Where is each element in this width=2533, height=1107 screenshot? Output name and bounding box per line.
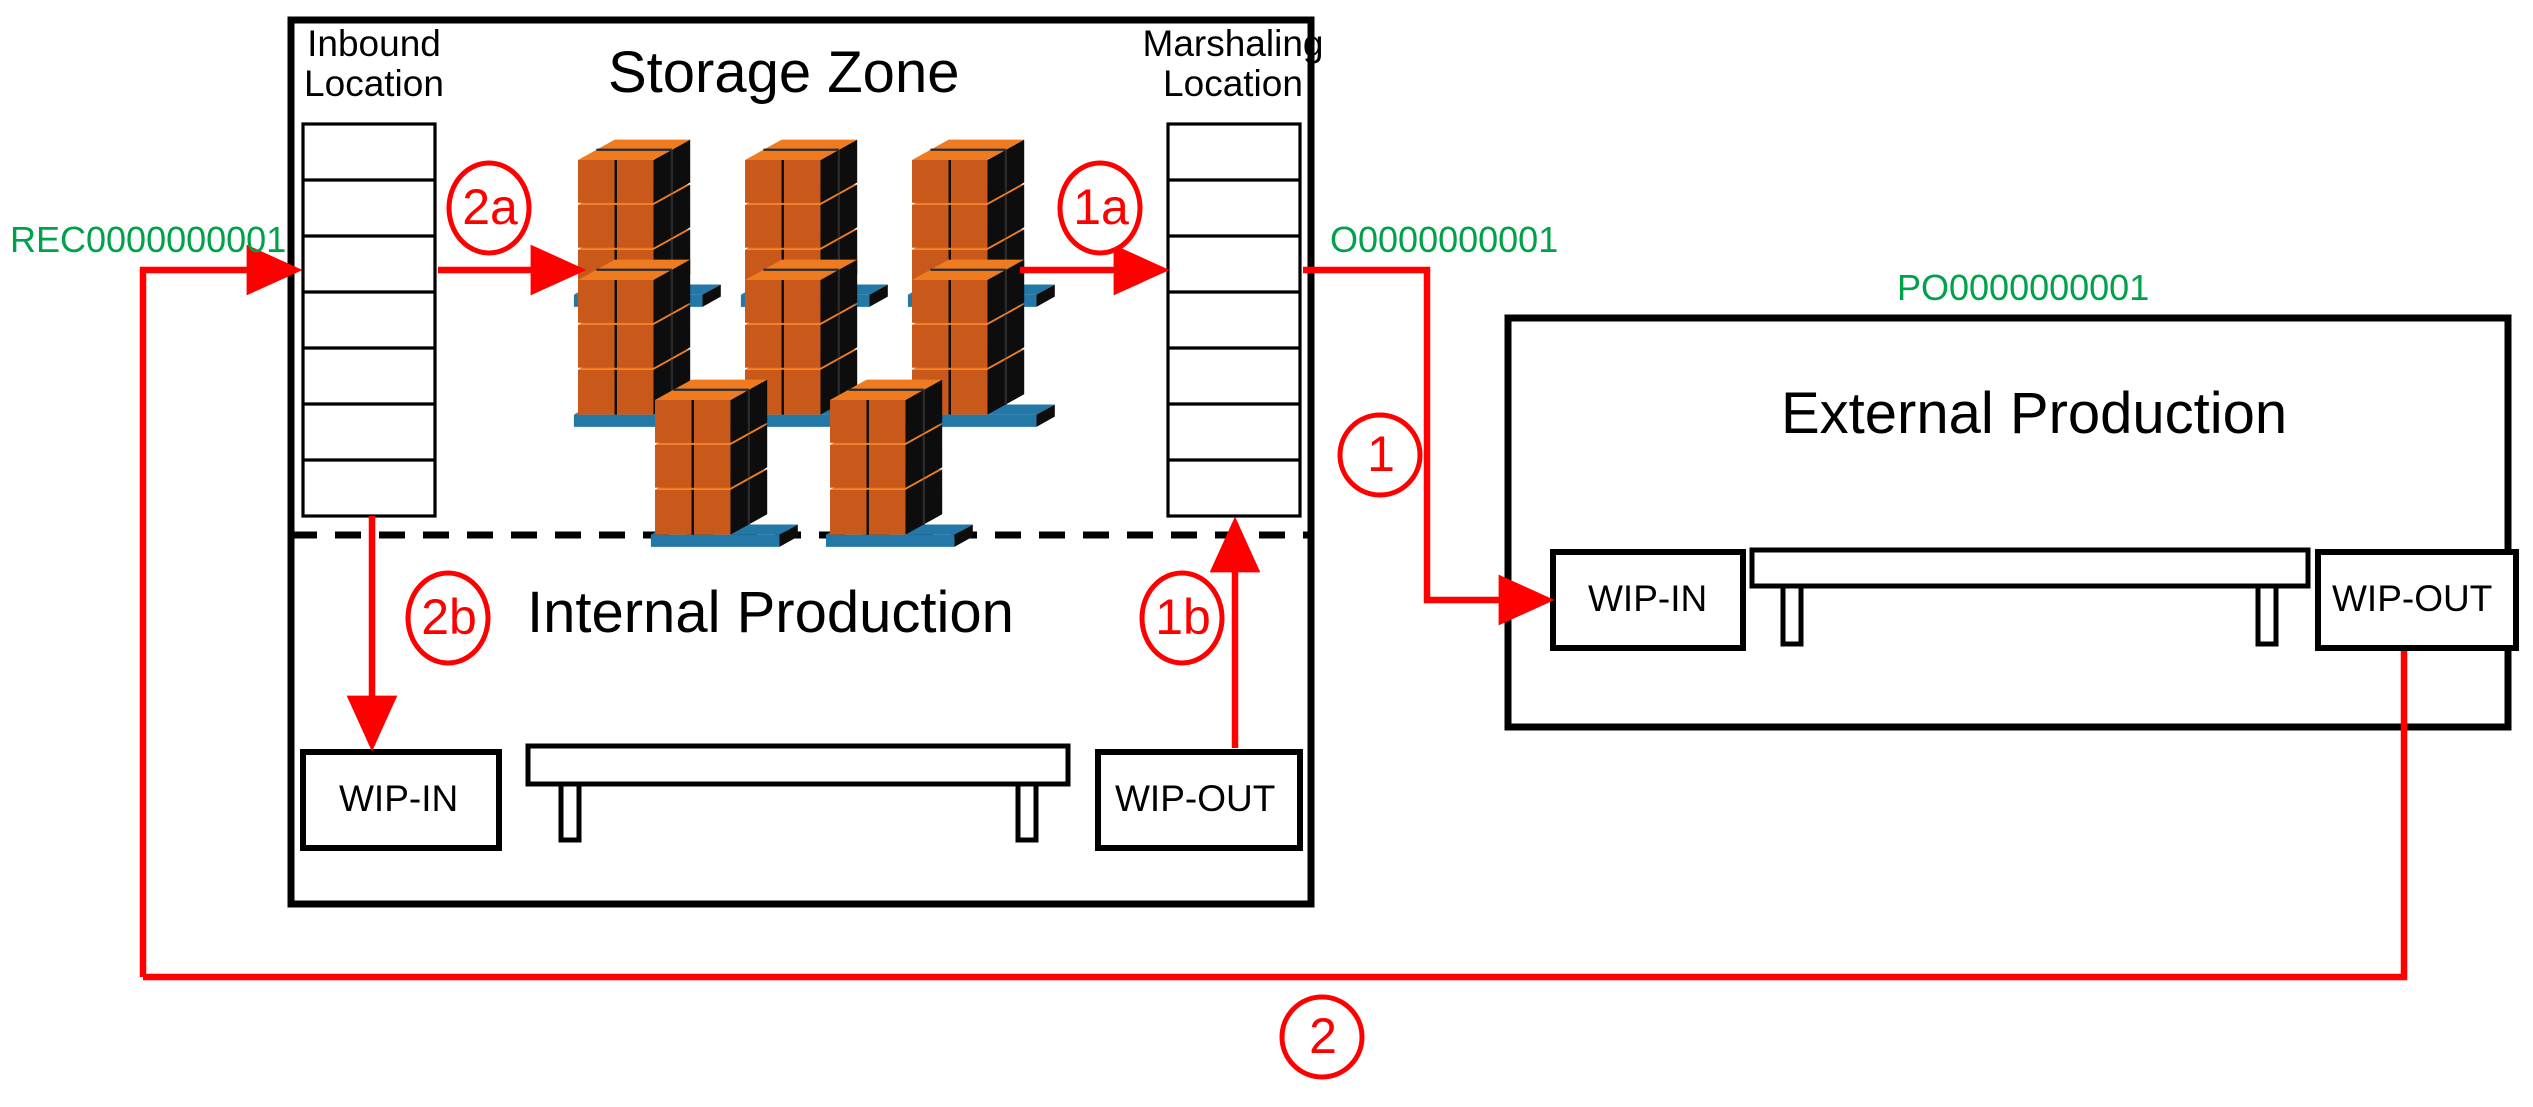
internal-production-title: Internal Production	[527, 583, 1014, 642]
step-marker-1a-label: 1a	[1070, 182, 1132, 233]
receipt-code-label: REC0000000001	[10, 222, 286, 259]
external-wip-out-label: WIP-OUT	[2332, 580, 2492, 618]
inbound-location-label-line1: Inbound	[300, 24, 448, 64]
step-marker-2b-label: 2b	[418, 592, 480, 643]
external-production-box	[1508, 318, 2508, 727]
purchase-order-code-label: PO0000000001	[1897, 270, 2149, 307]
order-code-label: O0000000001	[1330, 222, 1558, 259]
storage-zone-title: Storage Zone	[608, 43, 959, 102]
internal-wip-out-label: WIP-OUT	[1115, 780, 1275, 818]
step-marker-1-label: 1	[1350, 429, 1412, 480]
marshaling-location-label-line1: Marshaling	[1138, 24, 1328, 64]
external-wip-in-label: WIP-IN	[1588, 580, 1707, 618]
inbound-location-label: Inbound Location	[300, 24, 448, 104]
diagram-canvas: Inbound Location Marshaling Location Sto…	[0, 0, 2533, 1107]
step-marker-2a-label: 2a	[459, 182, 521, 233]
marshaling-location-label: Marshaling Location	[1138, 24, 1328, 104]
diagram-vector-layer	[0, 0, 2533, 1107]
step-marker-2-label: 2	[1292, 1011, 1354, 1062]
flow-receipt-to-inbound	[143, 270, 296, 977]
marshaling-location-label-line2: Location	[1138, 64, 1328, 104]
external-production-title: External Production	[1781, 384, 2287, 443]
step-marker-1b-label: 1b	[1152, 592, 1214, 643]
inbound-location-label-line2: Location	[300, 64, 448, 104]
internal-wip-in-label: WIP-IN	[339, 780, 458, 818]
